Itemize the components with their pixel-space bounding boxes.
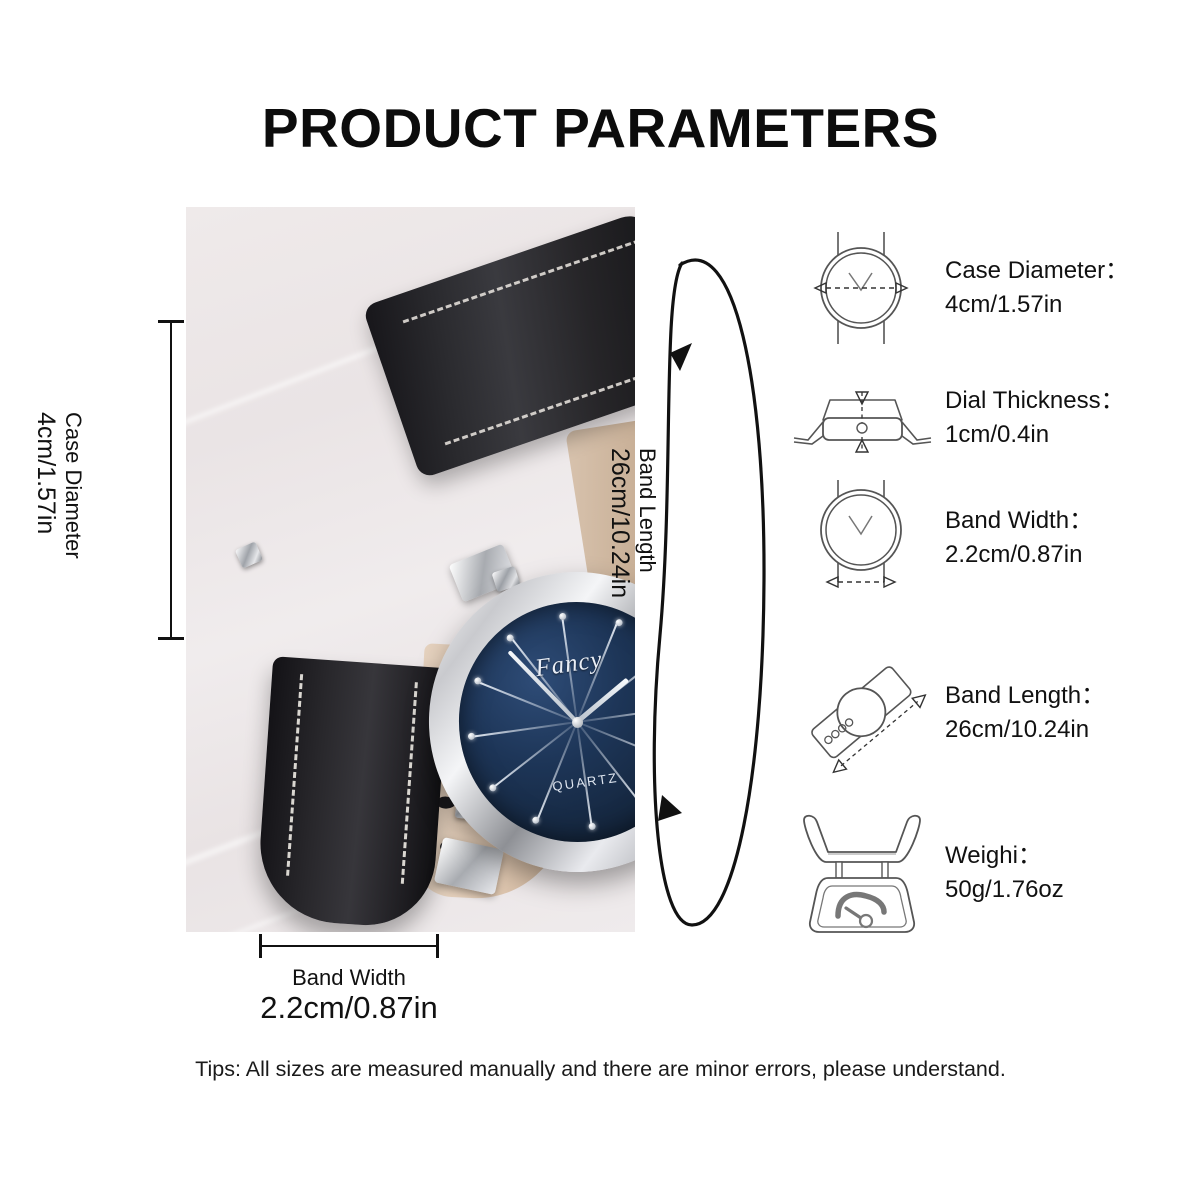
loop-arrowhead-top [670, 343, 692, 371]
spec-value: 1cm/0.4in [945, 418, 1125, 452]
spec-text-band-length: Band Length： 26cm/10.24in [945, 679, 1105, 747]
dimension-cap [436, 934, 439, 958]
band-width-dimension-name: Band Width [259, 965, 439, 991]
hour-marker [588, 822, 596, 830]
spec-text-weight: Weighi： 50g/1.76oz [945, 839, 1064, 907]
spec-row-dial-thickness: Dial Thickness： 1cm/0.4in [790, 358, 1190, 478]
product-parameters-infographic: PRODUCT PARAMETERS [0, 0, 1201, 1201]
dimension-cap [158, 320, 184, 323]
spec-text-band-width: Band Width： 2.2cm/0.87in [945, 504, 1093, 572]
spec-text-dial-thickness: Dial Thickness： 1cm/0.4in [945, 384, 1125, 452]
band-width-dimension-line [259, 945, 439, 947]
spec-value: 50g/1.76oz [945, 873, 1064, 907]
spec-row-band-length: Band Length： 26cm/10.24in [790, 638, 1190, 788]
watch-product-photo: Fancy QUARTZ [186, 207, 635, 932]
spec-label: Band Width： [945, 504, 1093, 538]
case-diameter-dimension-line [170, 320, 172, 640]
spec-label: Case Diameter： [945, 254, 1129, 288]
hour-marker [468, 732, 476, 740]
hour-marker [615, 619, 623, 627]
spec-label: Band Length： [945, 679, 1105, 713]
tips-note: Tips: All sizes are measured manually an… [0, 1057, 1201, 1082]
spec-label: Dial Thickness： [945, 384, 1125, 418]
spec-row-band-width: Band Width： 2.2cm/0.87in [790, 478, 1190, 598]
hour-marker [532, 816, 540, 824]
loop-path [654, 260, 764, 925]
watch-case: Fancy QUARTZ [410, 553, 635, 891]
watch-band-lower [255, 656, 449, 930]
spec-text-case-diameter: Case Diameter： 4cm/1.57in [945, 254, 1129, 322]
band-width-dimension-value: 2.2cm/0.87in [189, 990, 509, 1026]
loop-arrowhead-bottom [658, 795, 682, 821]
dimension-value: 26cm/10.24in [606, 448, 634, 598]
spec-row-weight: Weighi： 50g/1.76oz [790, 808, 1190, 938]
spec-row-case-diameter: Case Diameter： 4cm/1.57in [790, 228, 1190, 348]
kitchen-scale-icon [790, 808, 935, 938]
page-title: PRODUCT PARAMETERS [0, 96, 1201, 160]
case-diameter-dimension-label: Case Diameter 4cm/1.57in [31, 412, 86, 662]
watch-pusher-left [235, 541, 263, 568]
spec-label: Weighi： [945, 839, 1064, 873]
watch-case-diameter-icon [790, 228, 935, 348]
dimension-value: 4cm/1.57in [32, 412, 60, 534]
dimension-name: Band Length [635, 448, 660, 573]
spec-value: 4cm/1.57in [945, 288, 1129, 322]
dimension-cap [158, 637, 184, 640]
watch-strap-length-icon [790, 638, 935, 788]
watch-side-profile-icon [790, 358, 935, 478]
watch-band-width-icon [790, 478, 935, 598]
dimension-cap [259, 934, 262, 958]
hour-marker [559, 613, 567, 621]
band-length-dimension-label: Band Length 26cm/10.24in [605, 448, 660, 598]
spec-value: 2.2cm/0.87in [945, 538, 1093, 572]
dimension-name: Case Diameter [61, 412, 86, 559]
spec-value: 26cm/10.24in [945, 713, 1105, 747]
